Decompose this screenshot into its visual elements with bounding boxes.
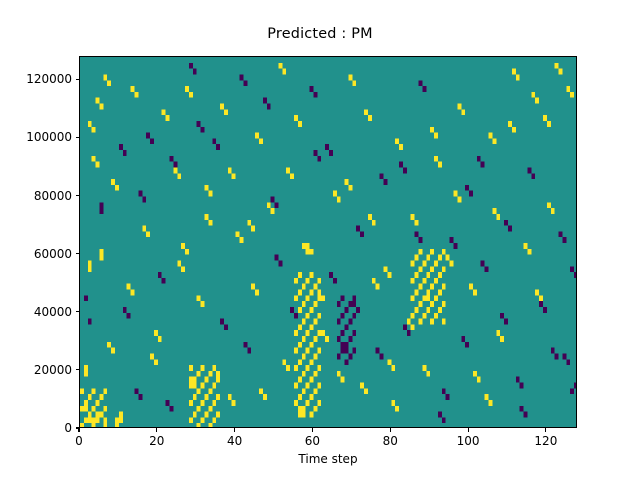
x-tick-label: 60: [305, 434, 320, 448]
y-tick-mark: [76, 137, 80, 138]
y-tick-mark: [76, 253, 80, 254]
y-tick-label: 100000: [0, 130, 72, 144]
y-tick-mark: [76, 195, 80, 196]
x-axis-label: Time step: [79, 452, 577, 466]
y-tick-mark: [76, 369, 80, 370]
x-tick-mark: [545, 428, 546, 432]
y-tick-mark: [76, 79, 80, 80]
y-tick-mark: [76, 311, 80, 312]
y-tick-label: 40000: [0, 305, 72, 319]
x-tick-label: 120: [534, 434, 557, 448]
y-tick-label: 120000: [0, 72, 72, 86]
heatmap-image: [80, 57, 577, 428]
x-tick-mark: [156, 428, 157, 432]
x-tick-label: 20: [149, 434, 164, 448]
x-tick-label: 0: [75, 434, 83, 448]
y-tick-label: 60000: [0, 247, 72, 261]
x-tick-mark: [468, 428, 469, 432]
y-tick-label: 80000: [0, 189, 72, 203]
y-tick-label: 0: [0, 421, 72, 435]
y-tick-label: 20000: [0, 363, 72, 377]
x-tick-mark: [390, 428, 391, 432]
x-tick-label: 80: [383, 434, 398, 448]
x-tick-mark: [312, 428, 313, 432]
chart-title: Predicted : PM: [0, 26, 640, 42]
x-tick-label: 40: [227, 434, 242, 448]
x-tick-mark: [234, 428, 235, 432]
heatmap-axes[interactable]: [79, 56, 577, 428]
figure-canvas: Predicted : PM 020406080100120 020000400…: [0, 0, 640, 480]
x-tick-label: 100: [457, 434, 480, 448]
y-tick-mark: [76, 427, 80, 428]
